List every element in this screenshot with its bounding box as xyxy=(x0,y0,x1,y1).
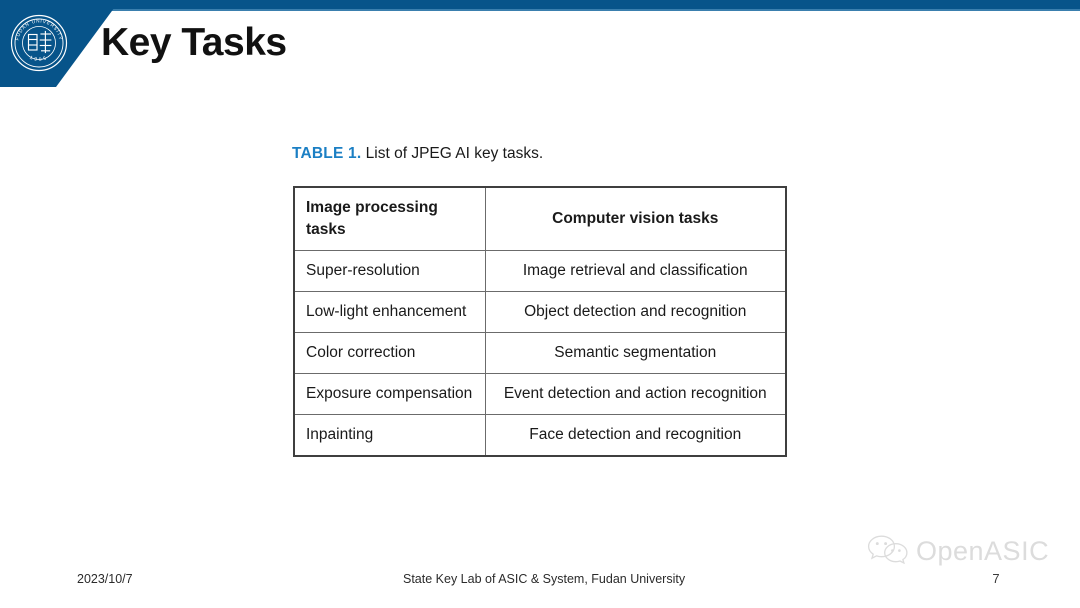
cell-computer-vision: Image retrieval and classification xyxy=(485,251,786,292)
cell-image-processing: Super-resolution xyxy=(294,251,485,292)
column-header-image-processing: Image processing tasks xyxy=(294,187,485,251)
table-row: Exposure compensation Event detection an… xyxy=(294,374,786,415)
table-header-row: Image processing tasks Computer vision t… xyxy=(294,187,786,251)
wechat-icon xyxy=(866,534,910,569)
cell-image-processing: Exposure compensation xyxy=(294,374,485,415)
svg-text:1905: 1905 xyxy=(29,55,50,63)
table-row: Color correction Semantic segmentation xyxy=(294,333,786,374)
key-tasks-table: Image processing tasks Computer vision t… xyxy=(293,186,787,457)
cell-computer-vision: Semantic segmentation xyxy=(485,333,786,374)
key-tasks-table-wrapper: Image processing tasks Computer vision t… xyxy=(293,186,785,457)
table-caption-label: TABLE 1. xyxy=(292,145,361,162)
cell-image-processing: Color correction xyxy=(294,333,485,374)
cell-image-processing: Inpainting xyxy=(294,415,485,457)
footer-date: 2023/10/7 xyxy=(77,572,133,586)
table-row: Inpainting Face detection and recognitio… xyxy=(294,415,786,457)
cell-computer-vision: Object detection and recognition xyxy=(485,292,786,333)
top-accent-hairline xyxy=(0,9,1080,11)
table-row: Super-resolution Image retrieval and cla… xyxy=(294,251,786,292)
slide: FUDAN UNIVERSITY 1905 Key Tasks TABLE 1.… xyxy=(0,0,1080,608)
openasic-watermark: OpenASIC xyxy=(866,534,1049,569)
table-caption-text: List of JPEG AI key tasks. xyxy=(361,145,543,162)
fudan-university-seal-icon: FUDAN UNIVERSITY 1905 xyxy=(10,14,68,72)
openasic-label: OpenASIC xyxy=(916,538,1049,565)
table-caption: TABLE 1. List of JPEG AI key tasks. xyxy=(292,145,543,163)
cell-image-processing: Low-light enhancement xyxy=(294,292,485,333)
footer-affiliation: State Key Lab of ASIC & System, Fudan Un… xyxy=(403,572,685,586)
column-header-computer-vision: Computer vision tasks xyxy=(485,187,786,251)
page-number: 7 xyxy=(986,571,1006,586)
table-row: Low-light enhancement Object detection a… xyxy=(294,292,786,333)
top-accent-strip xyxy=(0,0,1080,9)
cell-computer-vision: Face detection and recognition xyxy=(485,415,786,457)
page-title: Key Tasks xyxy=(101,21,287,65)
cell-computer-vision: Event detection and action recognition xyxy=(485,374,786,415)
